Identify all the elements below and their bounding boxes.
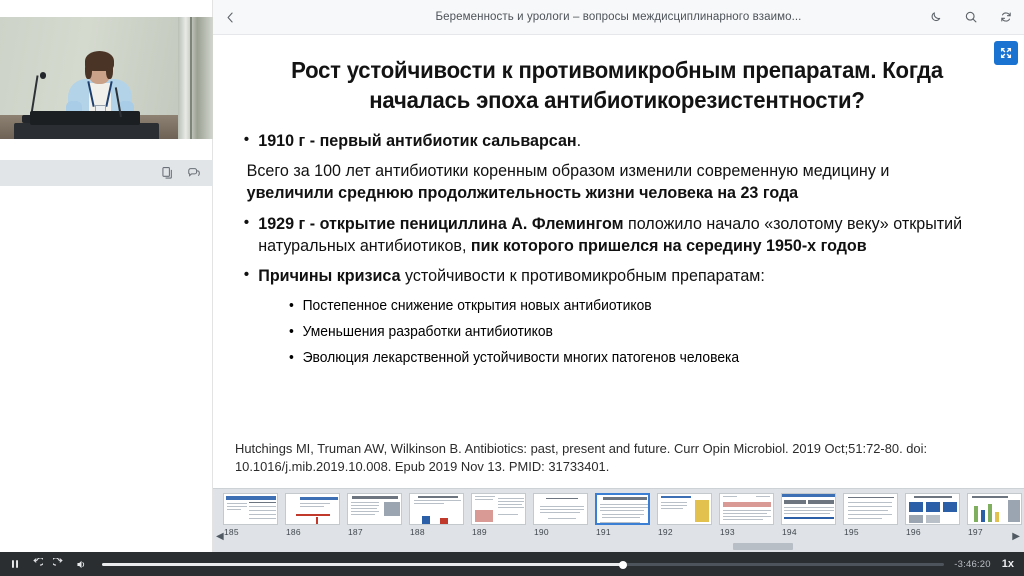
bullet-marker: • <box>289 297 294 316</box>
seek-handle[interactable] <box>619 561 627 569</box>
thumbnail-element <box>661 508 683 509</box>
video-presenter-hair-left <box>85 61 92 79</box>
thumbnail-element <box>351 508 377 509</box>
thumbnail-element <box>414 500 461 501</box>
forward-button[interactable] <box>53 558 65 570</box>
thumbnail-element <box>600 504 648 505</box>
thumbnail-cell[interactable]: 191 <box>595 493 650 537</box>
thumbnail-element <box>351 514 375 515</box>
slide-filmstrip[interactable]: 185186187188189190191192193194195196197 … <box>213 488 1024 552</box>
slide-thumbnail[interactable] <box>223 493 278 525</box>
thumbnail-cell[interactable]: 188 <box>409 493 464 537</box>
slide-thumbnail[interactable] <box>905 493 960 525</box>
thumbnail-element <box>981 510 985 522</box>
slide-bullet: Всего за 100 лет антибиотики коренным об… <box>235 160 975 203</box>
slide-thumbnail[interactable] <box>471 493 526 525</box>
thumbnail-element <box>602 517 640 518</box>
thumbnail-element <box>296 514 330 516</box>
thumbnail-element <box>784 517 834 519</box>
thumbnail-list: 185186187188189190191192193194195196197 <box>223 493 1022 537</box>
thumbnail-number: 192 <box>657 527 712 537</box>
thumbnail-cell[interactable]: 186 <box>285 493 340 537</box>
thumbnail-element <box>756 496 770 497</box>
thumbnail-element <box>723 502 771 507</box>
thumbnail-number: 194 <box>781 527 836 537</box>
sub-bullet-text: Эволюция лекарственной устойчивости мног… <box>303 350 740 366</box>
thumbnail-element <box>723 516 771 517</box>
thumbnail-element <box>723 510 771 511</box>
thumbnail-element <box>249 518 276 519</box>
slide-sub-bullets: •Постепенное снижение открытия новых ант… <box>235 297 998 368</box>
thumbnail-cell[interactable]: 194 <box>781 493 836 537</box>
thumbnail-element <box>540 512 580 513</box>
slide-canvas: Рост устойчивости к противомикробным пре… <box>213 36 1024 488</box>
thumbnail-element <box>600 510 644 511</box>
filmstrip-scrollbar-track[interactable] <box>213 543 1024 550</box>
presenter-video[interactable] <box>0 17 213 139</box>
thumbnail-number: 189 <box>471 527 526 537</box>
search-icon[interactable] <box>964 10 979 25</box>
thumbnail-element <box>498 498 524 499</box>
thumbnail-cell[interactable]: 193 <box>719 493 774 537</box>
thumbnail-element <box>926 515 940 523</box>
slide-thumbnail[interactable] <box>843 493 898 525</box>
slide-thumbnail[interactable] <box>409 493 464 525</box>
thumbnail-element <box>914 496 952 498</box>
rewind-icon <box>31 558 43 570</box>
thumbnail-element <box>418 496 458 498</box>
forward-icon <box>53 558 65 570</box>
seek-bar[interactable] <box>102 552 944 576</box>
thumbnail-element <box>784 513 830 514</box>
slide-bullet: •Причины кризиса устойчивости к противом… <box>235 265 975 287</box>
thumbnail-element <box>909 502 923 512</box>
thumbnail-element <box>227 509 241 510</box>
video-laptop <box>30 111 140 125</box>
thumbnail-number: 193 <box>719 527 774 537</box>
slide-thumbnail[interactable] <box>781 493 836 525</box>
thumbnail-element <box>848 510 888 511</box>
thumbnail-element <box>249 514 276 515</box>
slide-thumbnail[interactable] <box>657 493 712 525</box>
thumbnail-element <box>600 522 640 523</box>
slide-bullet: •1929 г - открытие пенициллина А. Флемин… <box>235 213 975 256</box>
slide-citation: Hutchings MI, Truman AW, Wilkinson B. An… <box>235 440 973 475</box>
bullet-text: устойчивости к противомикробным препарат… <box>401 266 765 285</box>
slide-thumbnail[interactable] <box>595 493 650 525</box>
chat-bubble-icon[interactable] <box>187 166 201 180</box>
slide-sub-bullet: •Постепенное снижение открытия новых ант… <box>289 297 977 316</box>
thumbnail-element <box>352 496 398 499</box>
thumbnail-cell[interactable]: 185 <box>223 493 278 537</box>
thumbnail-element <box>546 498 578 499</box>
thumbnail-element <box>988 504 992 522</box>
sidebar <box>0 0 213 552</box>
thumbnail-element <box>475 496 495 497</box>
slide-thumbnail[interactable] <box>967 493 1022 525</box>
thumbnail-element <box>972 496 1008 498</box>
thumbnail-element <box>498 507 524 508</box>
main-panel: Беременность и урологи – вопросы междисц… <box>213 0 1024 552</box>
slide-thumbnail[interactable] <box>719 493 774 525</box>
bullet-marker: • <box>244 265 249 286</box>
slide-sub-bullet: •Уменьшения разработки антибиотиков <box>289 323 977 342</box>
thumbnail-number: 190 <box>533 527 588 537</box>
thumbnail-element <box>661 502 687 503</box>
thumbnail-element <box>351 511 379 512</box>
thumbnail-element <box>600 507 648 508</box>
thumbnail-element <box>723 519 763 520</box>
thumbnail-element <box>603 497 647 500</box>
documents-icon[interactable] <box>161 166 175 180</box>
thumbnail-element <box>909 515 923 523</box>
pause-icon <box>9 558 21 570</box>
sidebar-toolbar <box>0 160 213 186</box>
thumbnail-element <box>784 500 806 504</box>
bullet-text: Всего за 100 лет антибиотики коренным об… <box>247 161 890 180</box>
thumbnail-element <box>498 504 522 505</box>
thumbnail-element <box>414 503 444 504</box>
volume-button[interactable] <box>75 558 88 571</box>
bullet-marker: • <box>244 130 249 151</box>
bullet-text: . <box>577 131 581 150</box>
bullet-text-bold: 1929 г - открытие пенициллина А. Флеминг… <box>258 214 623 233</box>
thumbnail-element <box>226 496 276 500</box>
thumbnail-cell[interactable]: 192 <box>657 493 712 537</box>
expand-icon <box>999 46 1013 60</box>
thumbnail-number: 187 <box>347 527 402 537</box>
thumbnail-element <box>661 505 687 506</box>
presentation-player: Беременность и урологи – вопросы междисц… <box>0 0 1024 576</box>
presentation-title: Беременность и урологи – вопросы междисц… <box>213 11 1024 23</box>
sub-bullet-text: Уменьшения разработки антибиотиков <box>303 324 553 340</box>
moon-icon[interactable] <box>929 10 944 25</box>
thumbnail-cell[interactable]: 190 <box>533 493 588 537</box>
thumbnail-element <box>300 503 330 504</box>
thumbnail-element <box>249 506 276 507</box>
thumbnail-element <box>316 517 318 524</box>
thumbnail-element <box>723 513 767 514</box>
thumbnail-element <box>440 518 448 524</box>
pause-button[interactable] <box>9 558 21 570</box>
thumbnail-element <box>548 518 576 519</box>
video-microphone-head <box>40 72 46 79</box>
thumbnail-element <box>848 514 892 515</box>
volume-icon <box>75 558 88 571</box>
thumbnail-element <box>943 502 957 512</box>
thumbnail-element <box>848 502 892 503</box>
thumbnail-element <box>602 514 644 515</box>
thumbnail-element <box>384 502 400 516</box>
thumbnail-number: 191 <box>595 527 650 537</box>
thumbnail-element <box>848 518 882 519</box>
thumbnail-cell[interactable]: 195 <box>843 493 898 537</box>
video-door <box>178 17 213 139</box>
thumbnail-element <box>540 506 584 507</box>
video-scene <box>0 17 213 139</box>
thumbnail-element <box>974 506 978 522</box>
slide-body: •1910 г - первый антибиотик сальварсан.В… <box>235 130 998 287</box>
bullet-text-bold: 1910 г - первый антибиотик сальварсан <box>258 131 576 150</box>
thumbnail-element <box>249 502 276 503</box>
thumbnail-number: 196 <box>905 527 960 537</box>
slide-thumbnail[interactable] <box>285 493 340 525</box>
back-button[interactable] <box>213 0 247 35</box>
slide-sub-bullet: •Эволюция лекарственной устойчивости мно… <box>289 349 977 368</box>
thumbnail-element <box>1008 500 1020 522</box>
thumbnail-element <box>848 506 892 507</box>
thumbnail-element <box>782 494 836 497</box>
thumbnail-number: 186 <box>285 527 340 537</box>
filmstrip-scroll-left[interactable]: ◀ <box>216 531 224 542</box>
thumbnail-element <box>498 514 518 515</box>
video-desk-front <box>14 123 159 139</box>
bullet-text-bold: Причины кризиса <box>258 266 400 285</box>
bullet-text-bold: пик которого пришелся на середину 1950-х… <box>471 236 867 255</box>
thumbnail-element <box>661 496 691 498</box>
video-presenter-hair-right <box>106 61 113 79</box>
slide-bullet: •1910 г - первый антибиотик сальварсан. <box>235 130 975 152</box>
playback-speed[interactable]: 1x <box>1002 558 1014 570</box>
seek-progress <box>102 563 623 566</box>
thumbnail-element <box>723 496 737 497</box>
player-bar: -3:46:20 1x <box>0 552 1024 576</box>
thumbnail-element <box>784 510 834 511</box>
slide-title: Рост устойчивости к противомикробным пре… <box>288 56 946 116</box>
thumbnail-element <box>926 502 940 512</box>
chevron-left-icon <box>224 11 237 24</box>
thumbnail-element <box>300 497 338 500</box>
fullscreen-button[interactable] <box>994 41 1018 65</box>
thumbnail-element <box>351 502 379 503</box>
thumbnail-number: 188 <box>409 527 464 537</box>
thumbnail-element <box>498 501 524 502</box>
thumbnail-element <box>249 510 276 511</box>
thumbnail-element <box>995 512 999 522</box>
thumbnail-element <box>227 506 247 507</box>
thumbnail-element <box>351 505 379 506</box>
thumbnail-element <box>784 507 834 508</box>
thumbnail-element <box>422 516 430 524</box>
thumbnail-element <box>475 510 493 522</box>
sub-bullet-text: Постепенное снижение открытия новых анти… <box>303 298 652 314</box>
thumbnail-element <box>808 500 834 504</box>
filmstrip-scrollbar-thumb[interactable] <box>733 543 793 550</box>
thumbnail-number: 185 <box>223 527 278 537</box>
slide-thumbnail[interactable] <box>347 493 402 525</box>
top-bar: Беременность и урологи – вопросы междисц… <box>213 0 1024 35</box>
slide-thumbnail[interactable] <box>533 493 588 525</box>
thumbnail-element <box>695 500 709 522</box>
time-remaining: -3:46:20 <box>954 559 990 570</box>
filmstrip-scroll-right[interactable]: ▶ <box>1012 531 1020 542</box>
thumbnail-cell[interactable]: 196 <box>905 493 960 537</box>
thumbnail-cell[interactable]: 189 <box>471 493 526 537</box>
thumbnail-element <box>848 497 894 498</box>
bullet-marker: • <box>289 323 294 342</box>
bullet-marker: • <box>289 349 294 368</box>
thumbnail-element <box>227 503 247 504</box>
thumbnail-number: 195 <box>843 527 898 537</box>
rewind-button[interactable] <box>31 558 43 570</box>
top-bar-actions <box>929 0 1014 35</box>
bullet-marker: • <box>244 213 249 234</box>
bullet-text-bold: увеличили среднюю продолжительность жизн… <box>247 183 798 202</box>
thumbnail-element <box>540 509 584 510</box>
thumbnail-element <box>300 506 324 507</box>
thumbnail-element <box>475 499 493 500</box>
thumbnail-cell[interactable]: 187 <box>347 493 402 537</box>
refresh-icon[interactable] <box>999 10 1014 25</box>
